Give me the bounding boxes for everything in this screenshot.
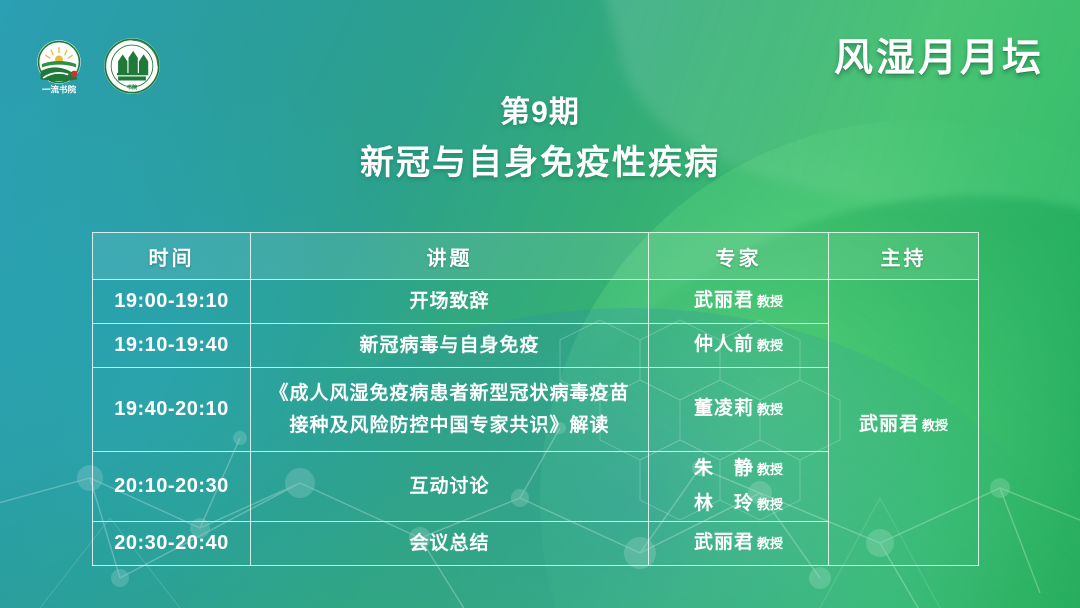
cell-time: 19:10-19:40 [93, 324, 251, 368]
cell-expert: 仲人前教授 [649, 324, 829, 368]
host-rank: 教授 [922, 418, 948, 433]
cell-topic: 新冠病毒与自身免疫 [251, 324, 649, 368]
table-header-row: 时间 讲题 专家 主持 [93, 233, 979, 280]
cell-topic: 互动讨论 [251, 452, 649, 522]
cell-time: 20:10-20:30 [93, 452, 251, 522]
expert-rank: 教授 [757, 294, 783, 309]
cell-topic: 开场致辞 [251, 280, 649, 324]
column-header-topic: 讲题 [251, 233, 649, 280]
expert-rank: 教授 [757, 536, 783, 551]
expert-name: 林 玲 [694, 493, 754, 514]
schedule-table-wrapper: 时间 讲题 专家 主持 19:00-19:10 开场致辞 武丽君教授 武丽君教授 [92, 232, 978, 566]
cell-time: 19:40-20:10 [93, 368, 251, 452]
yiliu-academy-logo: 一流书院 [26, 33, 92, 99]
expert-entry: 朱 静教授 [653, 452, 824, 486]
svg-text:一流书院: 一流书院 [42, 83, 77, 94]
expert-name: 武丽君 [694, 532, 754, 553]
cell-expert: 董凌莉教授 [649, 368, 829, 452]
column-header-time: 时间 [93, 233, 251, 280]
column-header-host: 主持 [829, 233, 979, 280]
expert-name: 仲人前 [694, 334, 754, 355]
cell-expert: 武丽君教授 [649, 280, 829, 324]
brand-wordmark: 风湿月月坛 [834, 27, 1044, 83]
topic-line-1: 《成人风湿免疫病患者新型冠状病毒疫苗 [255, 378, 644, 409]
expert-rank: 教授 [757, 462, 783, 477]
cell-expert: 武丽君教授 [649, 522, 829, 566]
expert-rank: 教授 [757, 497, 783, 512]
issue-number: 第9期 [0, 95, 1080, 131]
expert-name: 武丽君 [694, 290, 754, 311]
title-block: 第9期 新冠与自身免疫性疾病 [0, 95, 1080, 185]
cell-time: 19:00-19:10 [93, 280, 251, 324]
cell-topic: 《成人风湿免疫病患者新型冠状病毒疫苗 接种及风险防控中国专家共识》解读 [251, 368, 649, 452]
expert-name: 朱 静 [694, 458, 754, 479]
expert-rank: 教授 [757, 338, 783, 353]
expert-entry: 林 玲教授 [653, 487, 824, 521]
host-name: 武丽君 [859, 414, 919, 435]
cell-topic: 会议总结 [251, 522, 649, 566]
poster-canvas: 一流书院 书院 风湿月月坛 第9期 新冠与自身免疫性疾病 [0, 0, 1080, 608]
schedule-table: 时间 讲题 专家 主持 19:00-19:10 开场致辞 武丽君教授 武丽君教授 [92, 232, 979, 566]
cell-host: 武丽君教授 [829, 280, 979, 566]
column-header-expert: 专家 [649, 233, 829, 280]
page-title: 新冠与自身免疫性疾病 [0, 142, 1080, 185]
topic-line-2: 接种及风险防控中国专家共识》解读 [255, 410, 644, 441]
expert-name: 董凌莉 [694, 398, 754, 419]
cell-time: 20:30-20:40 [93, 522, 251, 566]
expert-rank: 教授 [757, 402, 783, 417]
table-row: 19:00-19:10 开场致辞 武丽君教授 武丽君教授 [93, 280, 979, 324]
cell-expert: 朱 静教授 林 玲教授 [649, 452, 829, 522]
logo-group: 一流书院 书院 [26, 33, 161, 99]
fuhaoshun-academy-logo: 书院 [103, 37, 161, 95]
